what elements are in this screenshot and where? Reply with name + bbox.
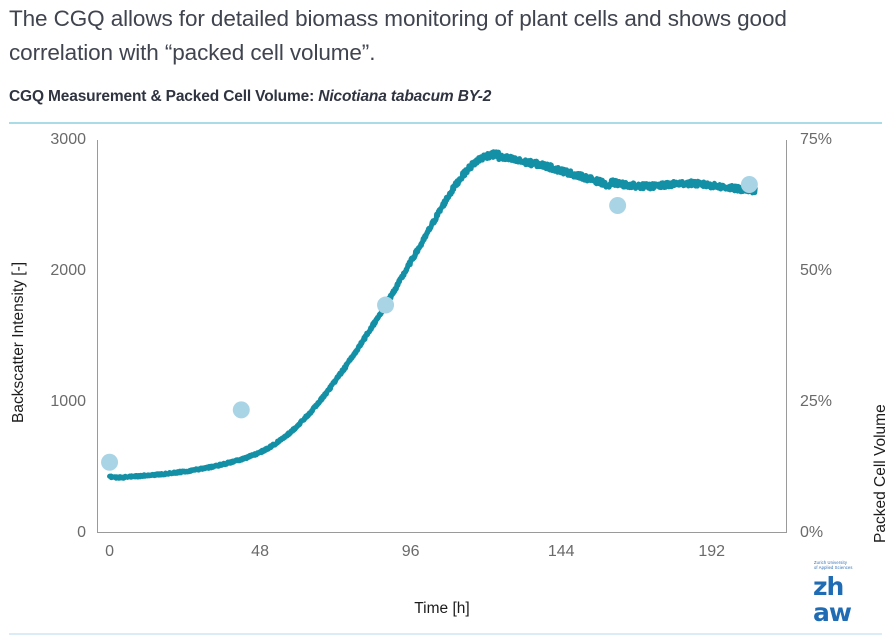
y-tick-right-1: 25% bbox=[800, 393, 860, 411]
logo-claim-line2: of Applied Sciences bbox=[814, 565, 879, 570]
pcv-data-point bbox=[609, 197, 626, 214]
x-axis-title: Time [h] bbox=[414, 600, 469, 618]
y-axis-left-title: Backscatter Intensity [-] bbox=[10, 262, 28, 423]
pcv-data-point bbox=[741, 176, 758, 193]
y-tick-right-0: 0% bbox=[800, 524, 860, 542]
y-tick-left-3: 3000 bbox=[30, 131, 86, 149]
logo-mark-line2: aw bbox=[813, 602, 879, 623]
series-pcv-markers bbox=[101, 176, 758, 471]
pcv-data-point bbox=[233, 401, 250, 418]
zhaw-logo: Zurich University of Applied Sciences zh… bbox=[813, 560, 879, 632]
chart-subtitle-species: Nicotiana tabacum BY-2 bbox=[318, 88, 491, 105]
chart-subtitle: CGQ Measurement & Packed Cell Volume: Ni… bbox=[9, 88, 491, 106]
logo-mark-line1: zh bbox=[813, 576, 879, 597]
chart-canvas: 0100020003000 0%25%50%75% 04896144192 Ba… bbox=[0, 123, 891, 593]
slide: The CGQ allows for detailed biomass moni… bbox=[0, 0, 891, 641]
chart-subtitle-prefix: CGQ Measurement & Packed Cell Volume: bbox=[9, 88, 318, 105]
x-tick-0: 0 bbox=[105, 543, 114, 561]
headline: The CGQ allows for detailed biomass moni… bbox=[9, 2, 874, 70]
x-tick-4: 192 bbox=[698, 543, 725, 561]
x-tick-3: 144 bbox=[548, 543, 575, 561]
y-tick-left-2: 2000 bbox=[30, 262, 86, 280]
chart-svg bbox=[0, 123, 891, 593]
bottom-divider bbox=[9, 633, 882, 635]
pcv-data-point bbox=[101, 454, 118, 471]
y-tick-right-3: 75% bbox=[800, 131, 860, 149]
x-tick-2: 96 bbox=[402, 543, 420, 561]
series-backscatter-line bbox=[110, 152, 756, 478]
y-axis-right-title: Packed Cell Volume bbox=[872, 404, 890, 543]
y-tick-right-2: 50% bbox=[800, 262, 860, 280]
y-tick-left-1: 1000 bbox=[30, 393, 86, 411]
x-tick-1: 48 bbox=[251, 543, 269, 561]
pcv-data-point bbox=[377, 297, 394, 314]
y-tick-left-0: 0 bbox=[30, 524, 86, 542]
